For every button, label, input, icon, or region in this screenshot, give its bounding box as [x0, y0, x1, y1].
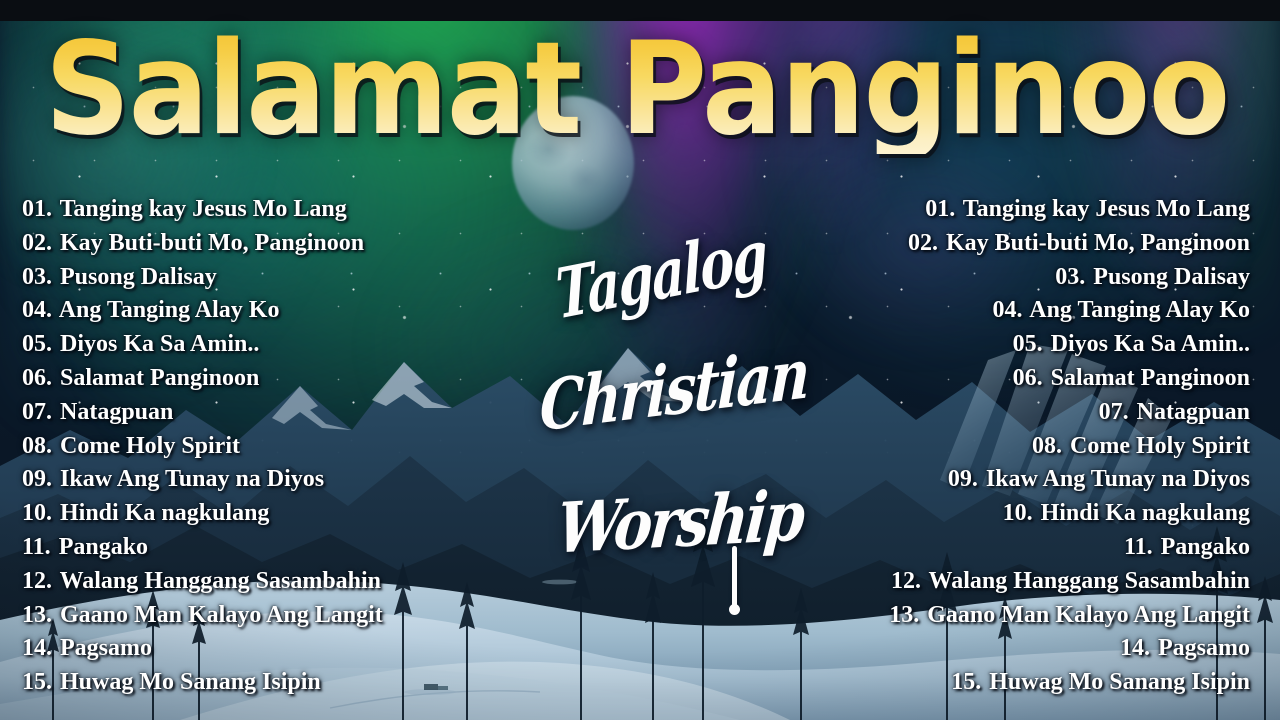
track-number: 06. — [22, 365, 52, 391]
track-number: 08. — [1032, 433, 1062, 459]
track-title: Kay Buti-buti Mo, Panginoon — [946, 230, 1250, 256]
track-number: 06. — [1013, 365, 1043, 391]
track-number: 10. — [1003, 500, 1033, 526]
track-title: Salamat Panginoon — [60, 365, 259, 391]
list-item[interactable]: 12. Walang Hanggang Sasambahin — [22, 565, 383, 599]
list-item[interactable]: 11. Pangako — [889, 531, 1250, 565]
track-number: 09. — [22, 466, 52, 492]
track-title: Pangako — [59, 534, 148, 560]
script-word-christian: Christian — [539, 333, 810, 447]
track-number: 15. — [22, 669, 52, 695]
list-item[interactable]: 08. Come Holy Spirit — [889, 430, 1250, 464]
list-item[interactable]: 05. Diyos Ka Sa Amin.. — [22, 328, 383, 362]
list-item[interactable]: 06. Salamat Panginoon — [22, 362, 383, 396]
track-title: Walang Hanggang Sasambahin — [60, 568, 381, 594]
track-title: Pagsamo — [1158, 635, 1250, 661]
track-number: 13. — [889, 602, 919, 628]
list-item[interactable]: 04. Ang Tanging Alay Ko — [22, 294, 383, 328]
track-number: 01. — [925, 196, 955, 222]
track-number: 03. — [22, 264, 52, 290]
track-number: 11. — [1124, 534, 1153, 560]
track-title: Gaano Man Kalayo Ang Langit — [60, 602, 383, 628]
track-number: 02. — [908, 230, 938, 256]
track-title: Walang Hanggang Sasambahin — [929, 568, 1250, 594]
track-number: 05. — [1013, 331, 1043, 357]
track-title: Ikaw Ang Tunay na Diyos — [60, 466, 324, 492]
list-item[interactable]: 09. Ikaw Ang Tunay na Diyos — [22, 463, 383, 497]
track-number: 12. — [22, 568, 52, 594]
track-title: Natagpuan — [1137, 399, 1250, 425]
track-number: 07. — [1099, 399, 1129, 425]
list-item[interactable]: 01. Tanging kay Jesus Mo Lang — [22, 193, 383, 227]
track-title: Salamat Panginoon — [1051, 365, 1250, 391]
track-number: 14. — [1120, 635, 1150, 661]
track-number: 04. — [22, 297, 52, 323]
list-item[interactable]: 14. Pagsamo — [889, 632, 1250, 666]
list-item[interactable]: 05. Diyos Ka Sa Amin.. — [889, 328, 1250, 362]
list-item[interactable]: 10. Hindi Ka nagkulang — [889, 497, 1250, 531]
track-title: Come Holy Spirit — [1070, 433, 1250, 459]
track-title: Diyos Ka Sa Amin.. — [1051, 331, 1250, 357]
track-title: Tanging kay Jesus Mo Lang — [60, 196, 347, 222]
track-title: Ang Tanging Alay Ko — [1029, 297, 1250, 323]
script-word-worship: Worship — [554, 476, 806, 570]
track-number: 08. — [22, 433, 52, 459]
tracklist-right: 01. Tanging kay Jesus Mo Lang 02. Kay Bu… — [889, 193, 1250, 700]
track-number: 14. — [22, 635, 52, 661]
track-number: 04. — [993, 297, 1023, 323]
paint-drip — [732, 546, 737, 608]
track-title: Pagsamo — [60, 635, 152, 661]
track-title: Huwag Mo Sanang Isipin — [60, 669, 321, 695]
track-title: Ikaw Ang Tunay na Diyos — [986, 466, 1250, 492]
track-number: 01. — [22, 196, 52, 222]
page-title: Salamat Panginoon — [45, 26, 1235, 154]
thumbnail-canvas: Salamat Panginoon 01. Tanging kay Jesus … — [0, 0, 1280, 720]
list-item[interactable]: 06. Salamat Panginoon — [889, 362, 1250, 396]
list-item[interactable]: 02. Kay Buti-buti Mo, Panginoon — [889, 227, 1250, 261]
track-number: 09. — [948, 466, 978, 492]
track-number: 02. — [22, 230, 52, 256]
track-number: 05. — [22, 331, 52, 357]
list-item[interactable]: 08. Come Holy Spirit — [22, 430, 383, 464]
track-title: Come Holy Spirit — [60, 433, 240, 459]
track-title: Kay Buti-buti Mo, Panginoon — [60, 230, 364, 256]
track-title: Pangako — [1161, 534, 1250, 560]
list-item[interactable]: 07. Natagpuan — [889, 396, 1250, 430]
list-item[interactable]: 11. Pangako — [22, 531, 383, 565]
list-item[interactable]: 03. Pusong Dalisay — [889, 261, 1250, 295]
list-item[interactable]: 04. Ang Tanging Alay Ko — [889, 294, 1250, 328]
track-title: Tanging kay Jesus Mo Lang — [963, 196, 1250, 222]
track-title: Diyos Ka Sa Amin.. — [60, 331, 259, 357]
track-number: 10. — [22, 500, 52, 526]
track-number: 13. — [22, 602, 52, 628]
list-item[interactable]: 15. Huwag Mo Sanang Isipin — [22, 666, 383, 700]
list-item[interactable]: 01. Tanging kay Jesus Mo Lang — [889, 193, 1250, 227]
track-title: Ang Tanging Alay Ko — [59, 297, 280, 323]
track-title: Huwag Mo Sanang Isipin — [989, 669, 1250, 695]
track-number: 03. — [1055, 264, 1085, 290]
list-item[interactable]: 02. Kay Buti-buti Mo, Panginoon — [22, 227, 383, 261]
track-title: Pusong Dalisay — [60, 264, 217, 290]
track-number: 07. — [22, 399, 52, 425]
list-item[interactable]: 15. Huwag Mo Sanang Isipin — [889, 666, 1250, 700]
list-item[interactable]: 13. Gaano Man Kalayo Ang Langit — [889, 599, 1250, 633]
list-item[interactable]: 03. Pusong Dalisay — [22, 261, 383, 295]
list-item[interactable]: 12. Walang Hanggang Sasambahin — [889, 565, 1250, 599]
list-item[interactable]: 07. Natagpuan — [22, 396, 383, 430]
track-number: 12. — [891, 568, 921, 594]
list-item[interactable]: 09. Ikaw Ang Tunay na Diyos — [889, 463, 1250, 497]
track-title: Pusong Dalisay — [1093, 264, 1250, 290]
track-title: Gaano Man Kalayo Ang Langit — [927, 602, 1250, 628]
track-number: 15. — [951, 669, 981, 695]
list-item[interactable]: 10. Hindi Ka nagkulang — [22, 497, 383, 531]
tracklist-left: 01. Tanging kay Jesus Mo Lang 02. Kay Bu… — [22, 193, 383, 700]
track-number: 11. — [22, 534, 51, 560]
list-item[interactable]: 13. Gaano Man Kalayo Ang Langit — [22, 599, 383, 633]
track-title: Hindi Ka nagkulang — [1041, 500, 1250, 526]
track-title: Hindi Ka nagkulang — [60, 500, 269, 526]
list-item[interactable]: 14. Pagsamo — [22, 632, 383, 666]
track-title: Natagpuan — [60, 399, 173, 425]
script-wordmark: Tagalog Christian Worship — [520, 236, 790, 626]
